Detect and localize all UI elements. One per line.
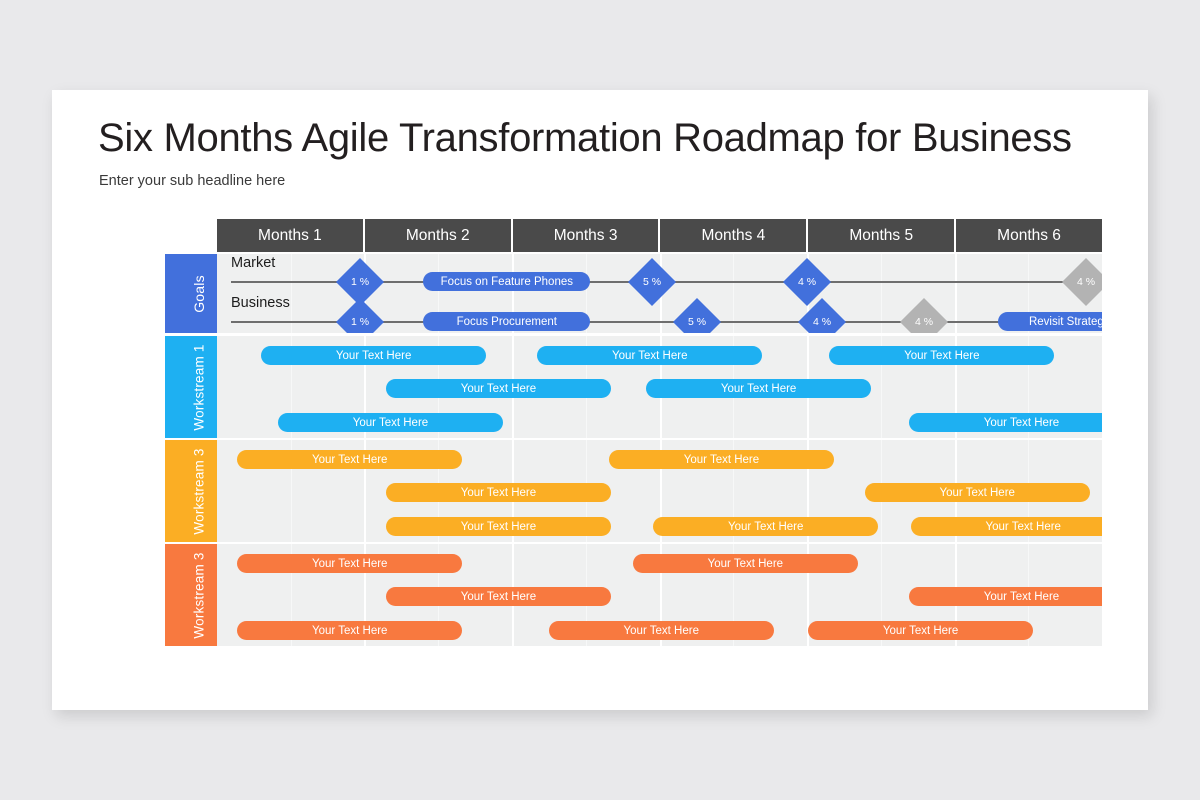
month-header-row: Months 1Months 2Months 3Months 4Months 5… bbox=[217, 219, 1102, 252]
task-bar[interactable]: Your Text Here bbox=[237, 450, 462, 469]
section-workstream-3: Workstream 3Your Text HereYour Text Here… bbox=[165, 544, 1102, 646]
task-bar[interactable]: Your Text Here bbox=[537, 346, 762, 365]
goal-row-business: Business1 %Focus Procurement5 %4 %4 %Rev… bbox=[217, 294, 1102, 332]
section-body-3: Your Text HereYour Text HereYour Text He… bbox=[217, 544, 1102, 646]
task-bar[interactable]: Your Text Here bbox=[653, 517, 878, 536]
task-bar[interactable]: Your Text Here bbox=[386, 483, 611, 502]
task-bar[interactable]: Your Text Here bbox=[911, 517, 1102, 536]
task-bar[interactable]: Your Text Here bbox=[909, 413, 1102, 432]
task-bar[interactable]: Your Text Here bbox=[261, 346, 486, 365]
section-body-2: Your Text HereYour Text HereYour Text He… bbox=[217, 440, 1102, 542]
task-bar[interactable]: Your Text Here bbox=[386, 379, 611, 398]
section-goals: GoalsMarket1 %Focus on Feature Phones5 %… bbox=[165, 254, 1102, 333]
task-bar[interactable]: Your Text Here bbox=[386, 587, 611, 606]
task-bar[interactable]: Your Text Here bbox=[278, 413, 503, 432]
month-header-cell-5[interactable]: Months 5 bbox=[808, 219, 956, 252]
section-workstream-1: Workstream 1Your Text HereYour Text Here… bbox=[165, 336, 1102, 438]
milestone-diamond[interactable]: 5 % bbox=[673, 298, 721, 333]
milestone-diamond-value: 1 % bbox=[351, 316, 369, 328]
goal-row-market: Market1 %Focus on Feature Phones5 %4 %4 … bbox=[217, 254, 1102, 292]
task-bar[interactable]: Your Text Here bbox=[808, 621, 1033, 640]
section-label-text: Goals bbox=[191, 275, 207, 313]
section-label-text: Workstream 3 bbox=[192, 448, 207, 534]
task-bar[interactable]: Your Text Here bbox=[646, 379, 871, 398]
milestone-diamond-value: 4 % bbox=[915, 316, 933, 328]
milestone-diamond-value: 4 % bbox=[813, 316, 831, 328]
section-body-0: Market1 %Focus on Feature Phones5 %4 %4 … bbox=[217, 254, 1102, 333]
task-bar[interactable]: Your Text Here bbox=[237, 554, 462, 573]
milestone-diamond[interactable]: 1 % bbox=[336, 298, 384, 333]
section-label-text: Workstream 3 bbox=[192, 552, 207, 638]
milestone-diamond-value: 1 % bbox=[351, 276, 369, 288]
section-body-1: Your Text HereYour Text HereYour Text He… bbox=[217, 336, 1102, 438]
month-header-cell-3[interactable]: Months 3 bbox=[513, 219, 661, 252]
month-header-cell-4[interactable]: Months 4 bbox=[660, 219, 808, 252]
task-bar[interactable]: Your Text Here bbox=[865, 483, 1090, 502]
task-bar[interactable]: Your Text Here bbox=[386, 517, 611, 536]
milestone-pill[interactable]: Focus Procurement bbox=[423, 312, 590, 331]
month-header-cell-1[interactable]: Months 1 bbox=[217, 219, 365, 252]
milestone-diamond[interactable]: 4 % bbox=[900, 298, 948, 333]
section-label-text: Workstream 1 bbox=[192, 344, 207, 430]
task-bar[interactable]: Your Text Here bbox=[829, 346, 1054, 365]
page-title: Six Months Agile Transformation Roadmap … bbox=[98, 116, 1072, 161]
section-workstream-3: Workstream 3Your Text HereYour Text Here… bbox=[165, 440, 1102, 542]
milestone-diamond-value: 5 % bbox=[688, 316, 706, 328]
roadmap-chart: Months 1Months 2Months 3Months 4Months 5… bbox=[165, 219, 1102, 662]
goal-row-label: Market bbox=[231, 255, 275, 271]
milestone-diamond-value: 4 % bbox=[798, 276, 816, 288]
task-bar[interactable]: Your Text Here bbox=[549, 621, 774, 640]
task-bar[interactable]: Your Text Here bbox=[633, 554, 858, 573]
milestone-pill[interactable]: Focus on Feature Phones bbox=[423, 272, 590, 291]
task-bar[interactable]: Your Text Here bbox=[237, 621, 462, 640]
task-bar[interactable]: Your Text Here bbox=[909, 587, 1102, 606]
page-subtitle: Enter your sub headline here bbox=[99, 173, 285, 189]
milestone-diamond[interactable]: 4 % bbox=[798, 298, 846, 333]
milestone-diamond-value: 4 % bbox=[1077, 276, 1095, 288]
month-header-cell-2[interactable]: Months 2 bbox=[365, 219, 513, 252]
month-header-cell-6[interactable]: Months 6 bbox=[956, 219, 1102, 252]
slide-card: Six Months Agile Transformation Roadmap … bbox=[52, 90, 1148, 710]
milestone-diamond-value: 5 % bbox=[642, 276, 660, 288]
goal-row-label: Business bbox=[231, 295, 290, 311]
task-bar[interactable]: Your Text Here bbox=[609, 450, 834, 469]
milestone-pill[interactable]: Revisit Strategy bbox=[998, 312, 1102, 331]
